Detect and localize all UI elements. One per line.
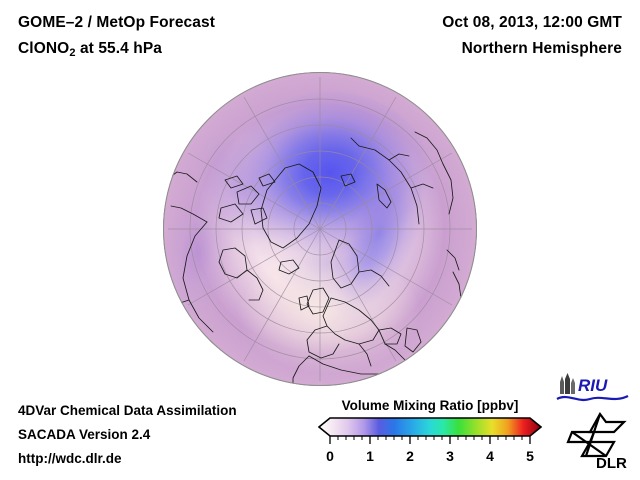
- globe-map: [163, 72, 477, 386]
- figure-title-species: ClONO2 at 55.4 hPa: [18, 40, 162, 59]
- colorbar-tick-label: 5: [526, 448, 534, 464]
- colorbar-tick-label: 1: [366, 448, 374, 464]
- colorbar-tick-label: 4: [486, 448, 494, 464]
- dlr-logo: DLR: [566, 412, 632, 470]
- riu-wave-icon: [557, 396, 628, 400]
- colorbar-tick-label: 0: [326, 448, 334, 464]
- figure-canvas: GOME–2 / MetOp Forecast ClONO2 at 55.4 h…: [0, 0, 640, 480]
- colorbar-ticks: [330, 436, 530, 444]
- riu-logo: RIU: [556, 372, 630, 406]
- colorbar: Volume Mixing Ratio [ppbv] 012345: [318, 398, 542, 472]
- colorbar-title: Volume Mixing Ratio [ppbv]: [318, 398, 542, 413]
- colorbar-tick-label: 2: [406, 448, 414, 464]
- coastline-outlines: [163, 72, 477, 386]
- colorbar-tick-labels: 012345: [326, 448, 534, 464]
- footer-line-url[interactable]: http://wdc.dlr.de: [18, 451, 122, 466]
- dlr-wordmark: DLR: [596, 455, 627, 470]
- dlr-bird-icon: [568, 414, 624, 456]
- footer-line-method: 4DVar Chemical Data Assimilation: [18, 403, 237, 418]
- region-label: Northern Hemisphere: [462, 40, 622, 58]
- globe-disc: [163, 72, 477, 386]
- riu-wordmark: RIU: [578, 376, 608, 395]
- figure-title-instrument: GOME–2 / MetOp Forecast: [18, 14, 215, 32]
- species-name: ClONO: [18, 40, 69, 57]
- colorbar-scale: 012345: [318, 416, 542, 472]
- riu-towers-icon: [560, 373, 575, 394]
- timestamp-label: Oct 08, 2013, 12:00 GMT: [442, 14, 622, 32]
- pressure-level: at 55.4 hPa: [76, 40, 163, 57]
- colorbar-tick-label: 3: [446, 448, 454, 464]
- colorbar-gradient-bar: [319, 418, 541, 436]
- footer-line-version: SACADA Version 2.4: [18, 427, 150, 442]
